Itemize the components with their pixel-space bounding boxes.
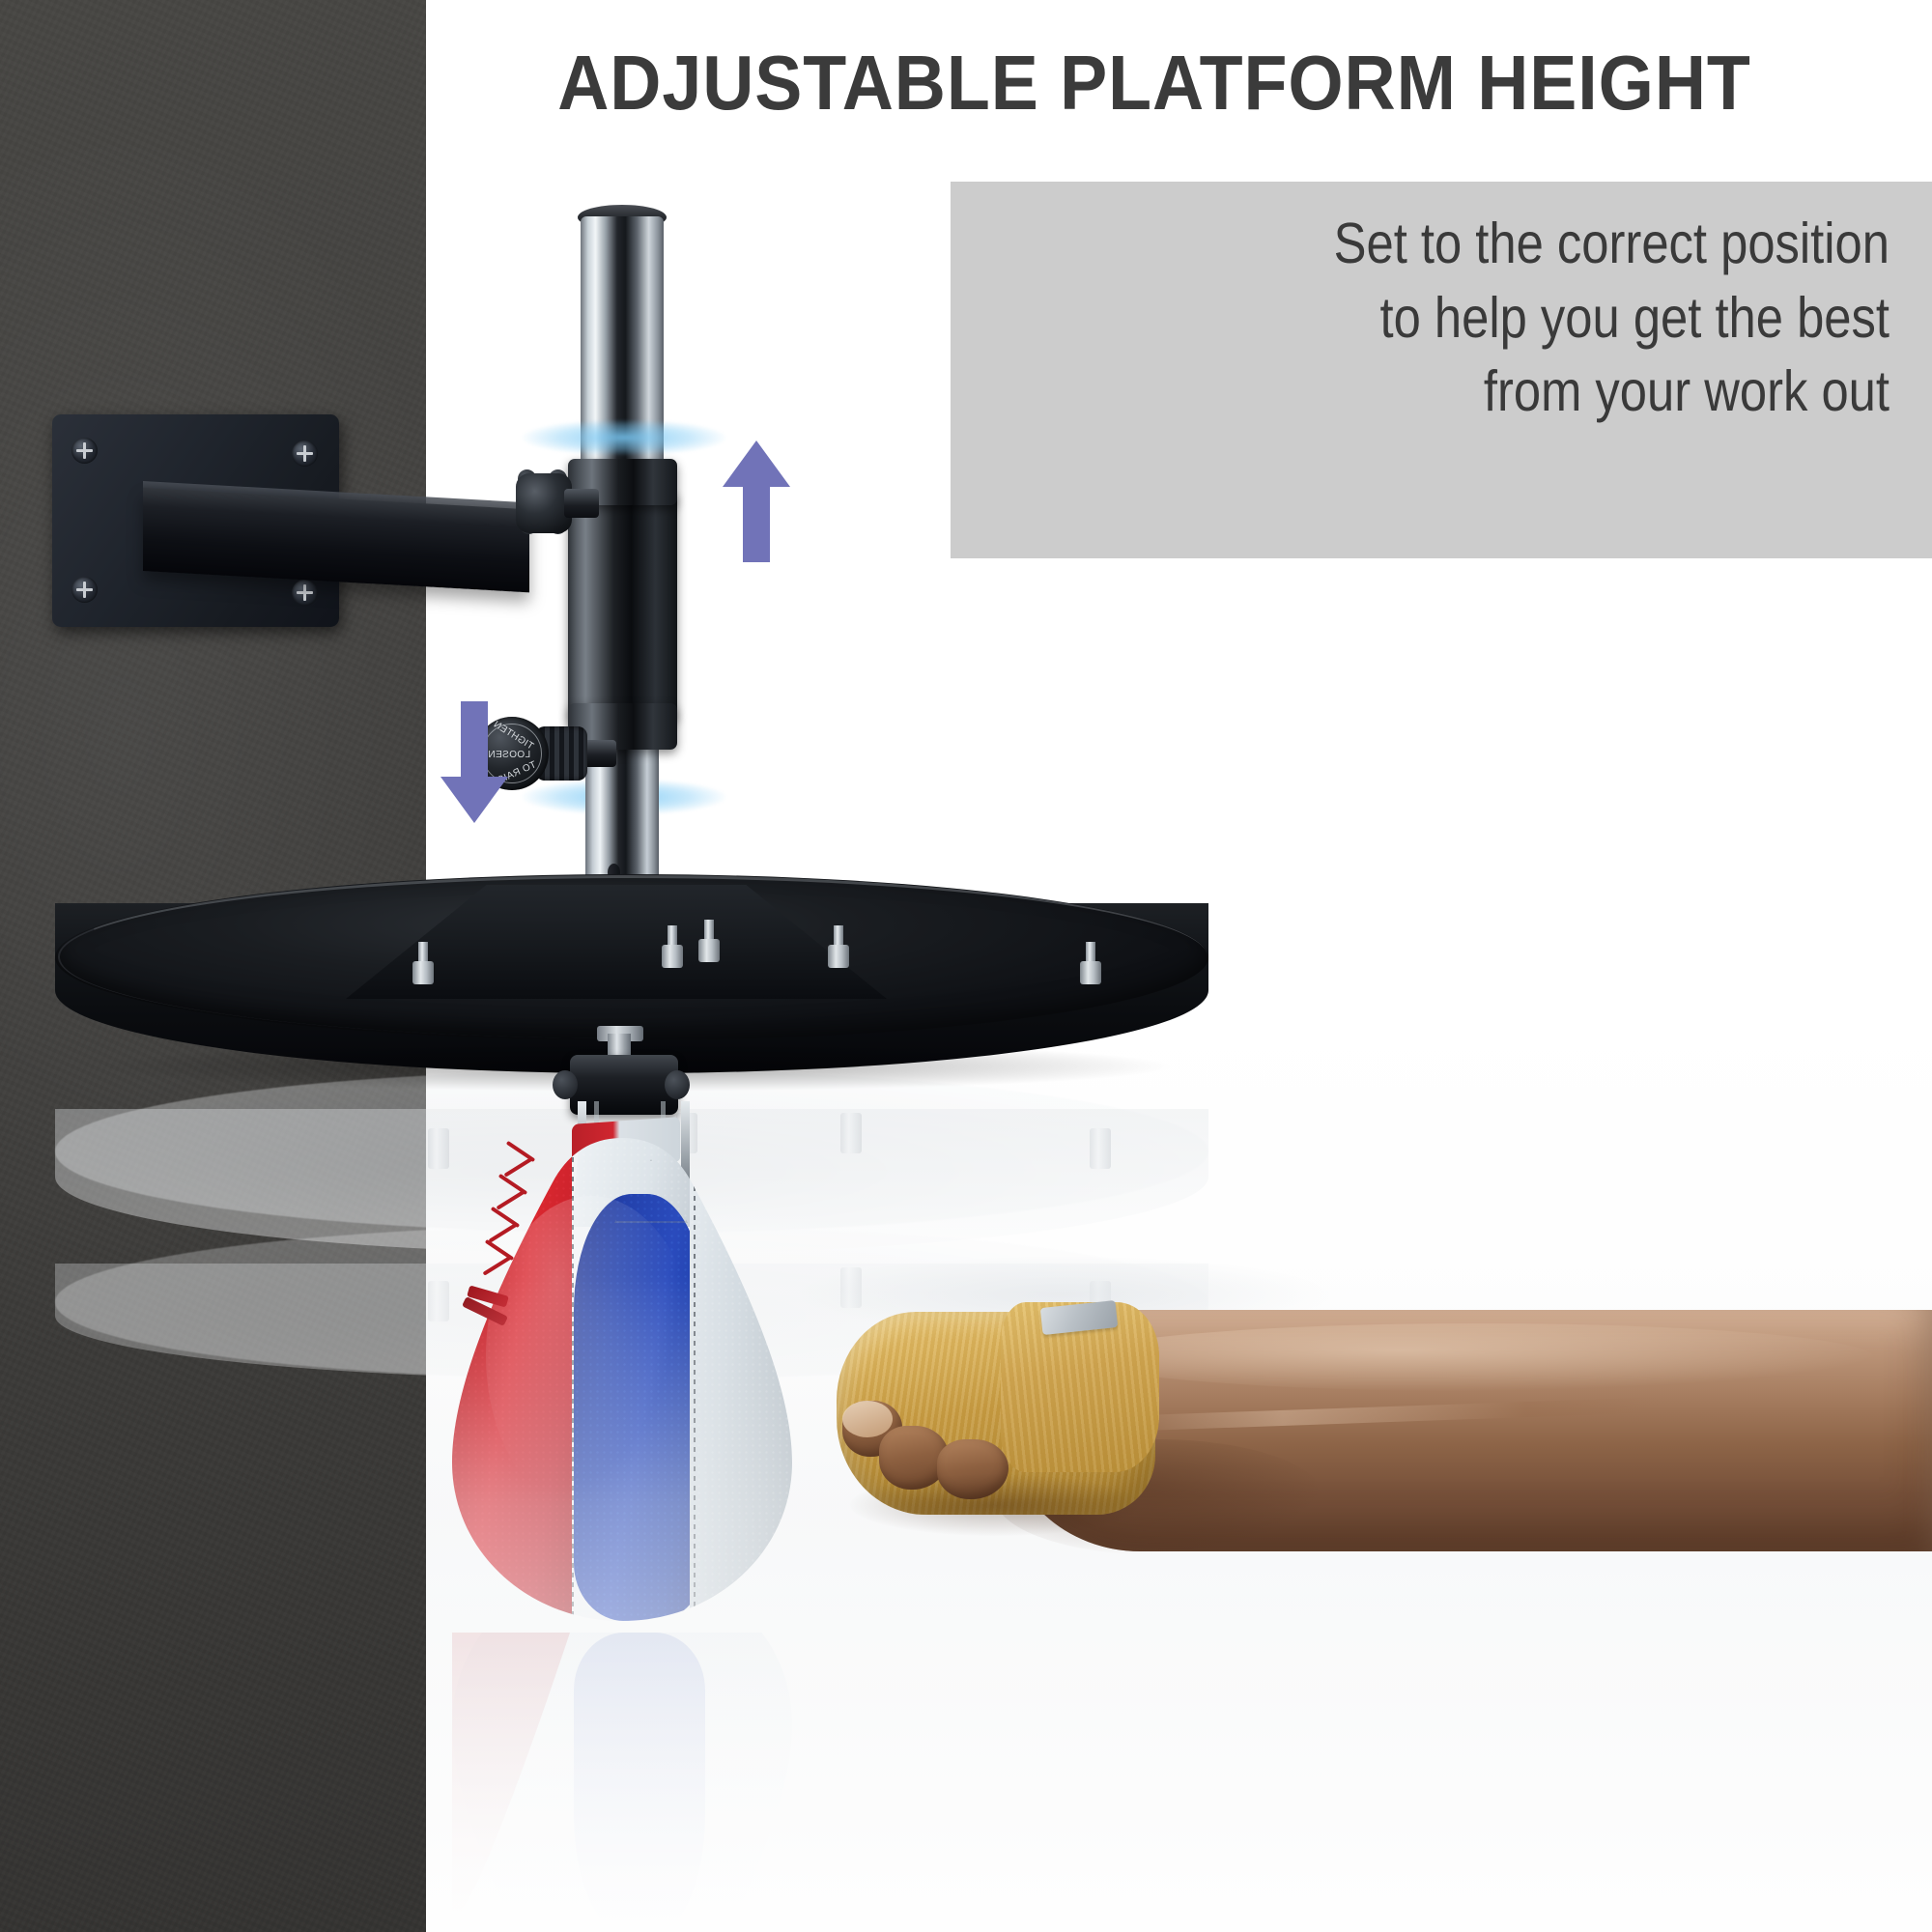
- bolt-reflection: [840, 1113, 862, 1153]
- lace-stitch: [483, 1255, 513, 1275]
- lace-stitch: [497, 1189, 526, 1209]
- lace-stitch: [504, 1156, 534, 1177]
- screw-icon: [292, 440, 318, 467]
- platform-bolt: [662, 925, 683, 970]
- bolt-reflection: [1090, 1128, 1111, 1169]
- upper-adjustment-knob[interactable]: [516, 469, 587, 539]
- platform-bolt: [412, 942, 434, 986]
- screw-icon: [71, 577, 98, 603]
- platform-bolt: [828, 925, 849, 970]
- product-marketing-image: ADJUSTABLE PLATFORM HEIGHT Set to the co…: [0, 0, 1932, 1932]
- forearm-highlight: [1082, 1323, 1874, 1391]
- knob-shaft: [583, 740, 616, 767]
- screw-icon: [71, 438, 98, 464]
- boxer-arm: [831, 1285, 1932, 1652]
- fingertip: [842, 1401, 893, 1437]
- info-line-1: Set to the correct position: [1125, 207, 1889, 281]
- hand-shadow: [850, 1474, 1140, 1536]
- screw-icon: [292, 580, 318, 606]
- swivel-pivot-right: [665, 1070, 690, 1099]
- lace-stitch: [489, 1222, 519, 1242]
- raise-arrow: [723, 440, 790, 562]
- rotation-indicator-top: [522, 419, 726, 456]
- info-panel-copy: Set to the correct position to help you …: [1125, 207, 1889, 429]
- platform-bolt: [1080, 942, 1101, 986]
- knob-shaft: [564, 489, 599, 518]
- bolt-reflection: [428, 1128, 449, 1169]
- info-line-3: from your work out: [1125, 355, 1889, 429]
- swivel-pivot-left: [553, 1070, 578, 1099]
- page-title: ADJUSTABLE PLATFORM HEIGHT: [448, 44, 1861, 122]
- lower-arrow: [440, 701, 508, 823]
- platform-bolt: [698, 920, 720, 964]
- info-panel: Set to the correct position to help you …: [951, 182, 1932, 558]
- info-line-2: to help you get the best: [1125, 281, 1889, 355]
